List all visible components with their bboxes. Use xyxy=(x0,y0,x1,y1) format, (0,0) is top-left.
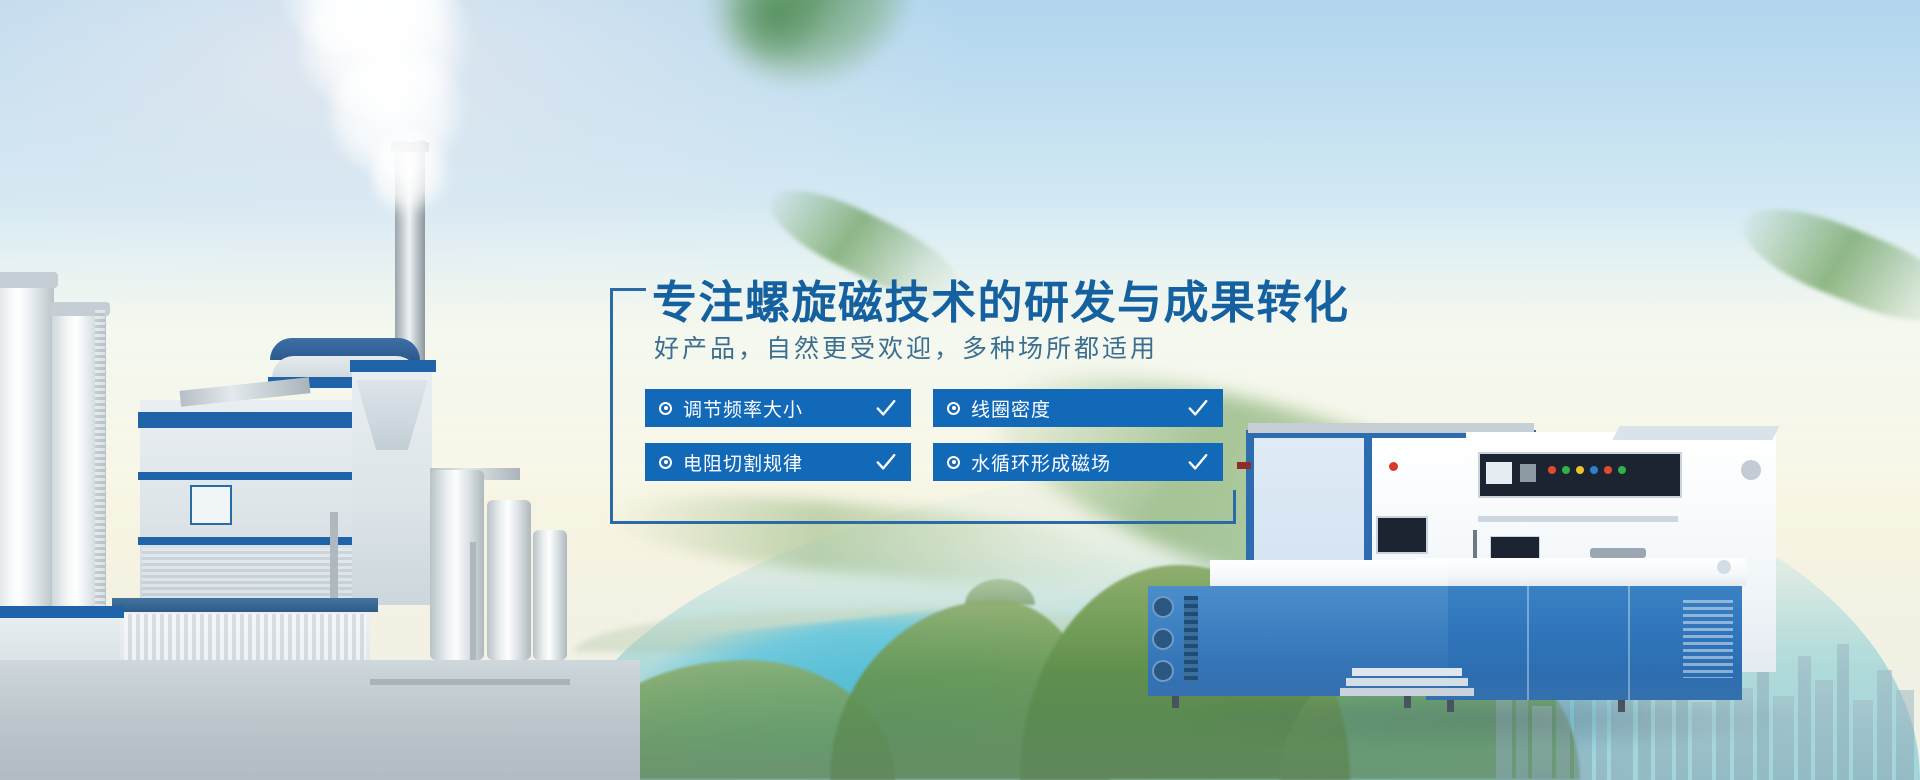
radio-dot-icon xyxy=(659,402,672,415)
feature-badge-label: 线圈密度 xyxy=(971,395,1051,422)
mid-unit-gauge-2 xyxy=(1152,628,1174,650)
radio-dot-icon xyxy=(947,402,960,415)
cabinet-step-1 xyxy=(1352,668,1462,676)
page-subtitle: 好产品，自然更受欢迎，多种场所都适用 xyxy=(654,329,1158,365)
check-icon xyxy=(875,451,897,473)
oven-panel-screen xyxy=(1486,462,1512,484)
feature-badge[interactable]: 电阻切割规律 xyxy=(645,443,911,481)
support-column-2 xyxy=(470,542,476,662)
radio-dot-icon xyxy=(659,456,672,469)
oven-led-yellow xyxy=(1576,466,1584,474)
silo-ladder xyxy=(95,310,105,610)
hero-banner: 专注螺旋磁技术的研发与成果转化 好产品，自然更受欢迎，多种场所都适用 调节频率大… xyxy=(0,0,1920,780)
plant-ground xyxy=(0,660,640,780)
building-siding xyxy=(142,548,356,600)
mid-unit-foot-1 xyxy=(1172,696,1179,708)
mid-unit-foot-2 xyxy=(1404,696,1411,708)
wide-unit-seam-1 xyxy=(1527,586,1529,700)
walkway-rail xyxy=(370,679,570,685)
check-icon xyxy=(1187,451,1209,473)
feature-badge[interactable]: 调节频率大小 xyxy=(645,389,911,427)
silo-tower-1 xyxy=(0,280,54,610)
wide-unit-foot-2 xyxy=(1618,700,1625,712)
check-icon xyxy=(875,397,897,419)
building-window xyxy=(190,485,232,525)
feature-badge-group: 调节频率大小 线圈密度 电阻切割规律 xyxy=(645,389,1245,497)
process-tank-3 xyxy=(533,530,567,660)
oven-led-red-2 xyxy=(1604,466,1612,474)
cabinet-indicator-light xyxy=(1389,462,1398,471)
bracket-top-tick xyxy=(610,288,646,291)
oven-led-green xyxy=(1562,466,1570,474)
feature-badge[interactable]: 线圈密度 xyxy=(933,389,1223,427)
mid-unit-gauge-3 xyxy=(1152,660,1174,682)
secondary-building-cap xyxy=(350,360,436,372)
feature-badge[interactable]: 水循环形成磁场 xyxy=(933,443,1223,481)
wide-unit-top xyxy=(1416,558,1746,586)
oven-seam xyxy=(1478,516,1678,522)
cabinet-step-3 xyxy=(1340,688,1474,696)
low-shed-roof xyxy=(112,598,378,612)
industrial-plant-illustration xyxy=(0,160,620,780)
feature-badge-label: 电阻切割规律 xyxy=(683,449,803,476)
building-mid-band xyxy=(138,472,364,480)
wide-unit-port xyxy=(1717,560,1731,574)
page-title: 专注螺旋磁技术的研发与成果转化 xyxy=(652,266,1350,331)
wide-unit-seam-2 xyxy=(1628,586,1630,700)
oven-fan-icon xyxy=(1741,460,1761,480)
wide-unit-foot-1 xyxy=(1447,700,1454,712)
process-tank-2 xyxy=(487,500,531,660)
radio-dot-icon xyxy=(947,456,960,469)
oven-top-bevel xyxy=(1612,426,1779,440)
feature-badge-label: 调节频率大小 xyxy=(683,395,803,422)
feature-badge-row-1: 调节频率大小 线圈密度 xyxy=(645,389,1245,427)
oven-led-blue xyxy=(1590,466,1598,474)
bracket-left-line xyxy=(610,288,613,524)
feature-badge-row-2: 电阻切割规律 水循环形成磁场 xyxy=(645,443,1245,481)
mid-unit-grille xyxy=(1184,596,1198,682)
check-icon xyxy=(1187,397,1209,419)
cabinet-step-2 xyxy=(1346,678,1468,686)
bracket-bottom-line xyxy=(610,521,1236,524)
oven-door-handle xyxy=(1590,548,1646,558)
feature-badge-label: 水循环形成磁场 xyxy=(971,449,1111,476)
oven-led-red xyxy=(1548,466,1556,474)
cabinet-display xyxy=(1376,516,1428,554)
oven-panel-knob xyxy=(1520,464,1536,482)
side-shed-roof xyxy=(0,606,124,618)
mid-unit-gauge-1 xyxy=(1152,596,1174,618)
wide-unit-vents xyxy=(1683,600,1733,678)
oven-led-green-2 xyxy=(1618,466,1626,474)
smoke-puff-4 xyxy=(372,130,448,220)
silo-cap-1 xyxy=(0,272,58,288)
building-top-band xyxy=(138,412,364,428)
